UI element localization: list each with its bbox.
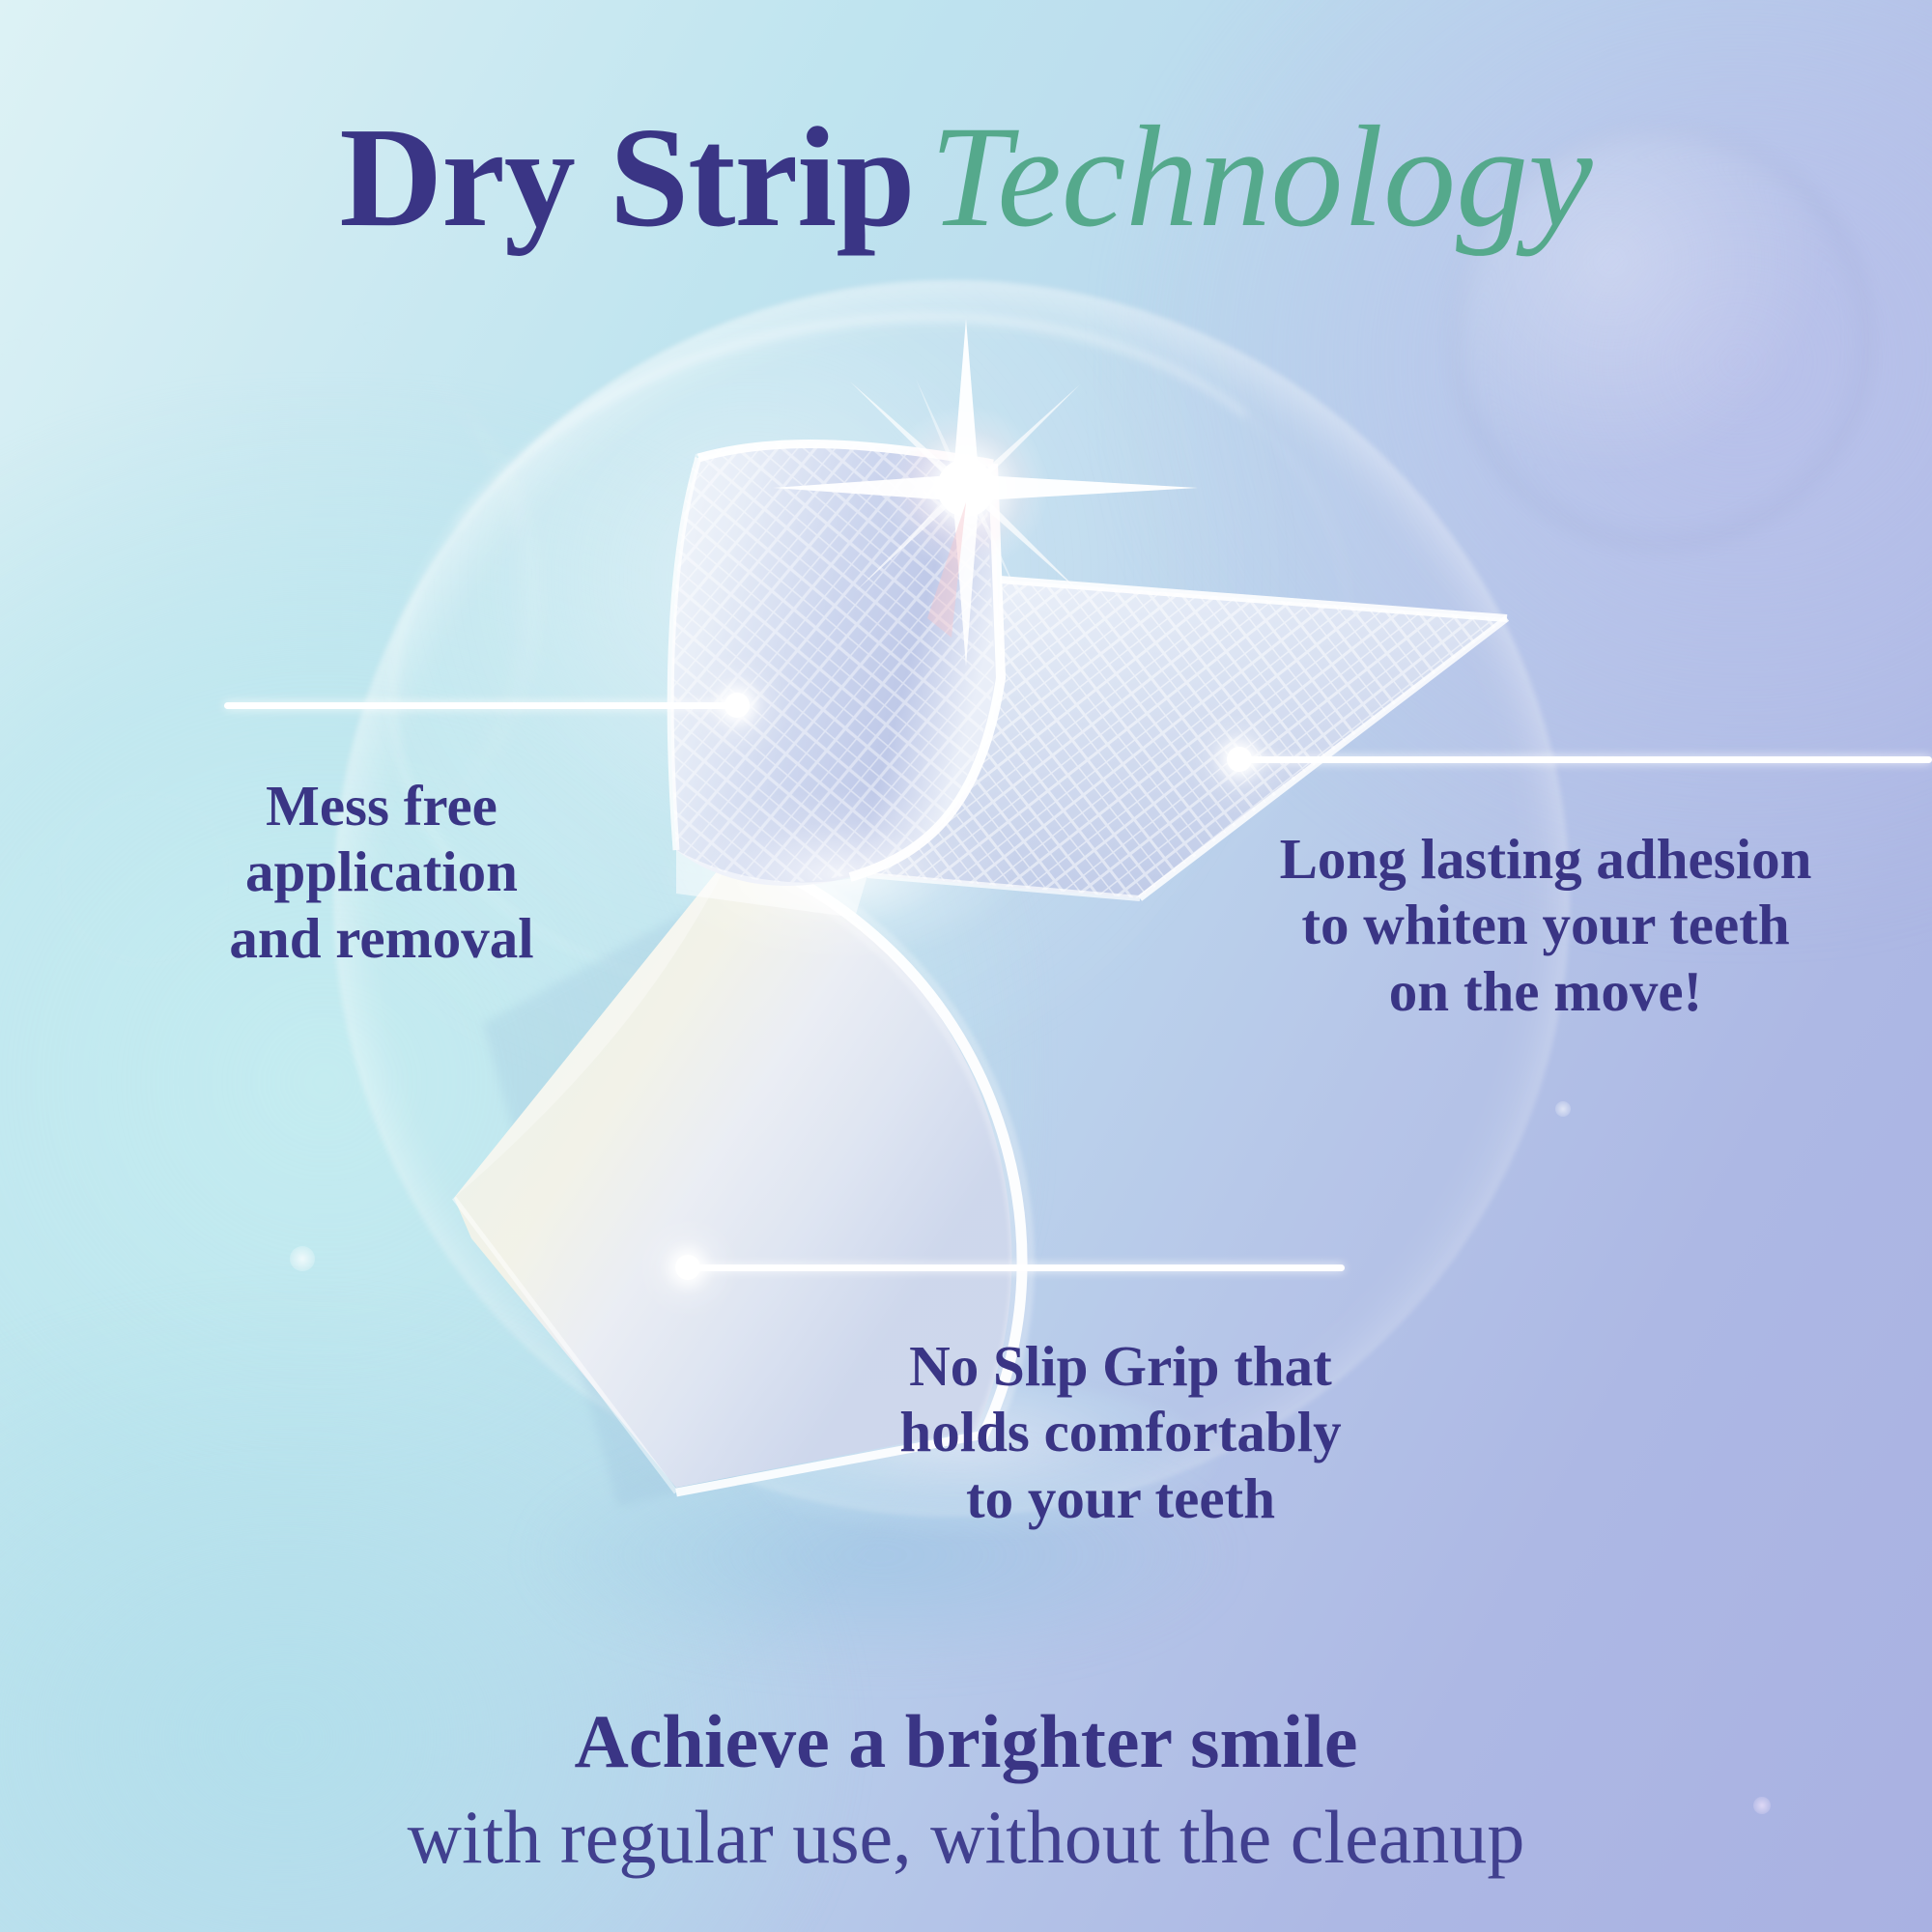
callout-label-long-lasting-adhesion: Long lasting adhesion to whiten your tee… [1227, 826, 1864, 1024]
callout-label-line: No Slip Grip that [831, 1333, 1410, 1399]
footer-headline: Achieve a brighter smile [0, 1700, 1932, 1783]
callout-line-long-lasting-adhesion [1239, 756, 1932, 763]
callout-label-line: holds comfortably [831, 1399, 1410, 1464]
callout-dot-long-lasting-adhesion [1227, 747, 1252, 772]
callout-label-line: to whiten your teeth [1227, 892, 1864, 957]
callout-label-line: and removal [145, 905, 618, 971]
callout-label-mess-free: Mess free application and removal [145, 773, 618, 971]
title-bold-part: Dry Strip [339, 99, 914, 257]
callout-label-line: application [145, 838, 618, 904]
poster-canvas: Dry StripTechnology Mess free applicatio… [0, 0, 1932, 1932]
footer-subline: with regular use, without the cleanup [0, 1793, 1932, 1882]
callout-dot-no-slip-grip [675, 1255, 700, 1280]
callout-label-no-slip-grip: No Slip Grip that holds comfortably to y… [831, 1333, 1410, 1531]
footer-tagline: Achieve a brighter smile with regular us… [0, 1700, 1932, 1882]
page-title: Dry StripTechnology [0, 104, 1932, 249]
callout-label-line: to your teeth [831, 1465, 1410, 1531]
title-italic-part: Technology [930, 97, 1593, 257]
callout-line-mess-free [224, 702, 736, 709]
callout-label-line: on the move! [1227, 958, 1864, 1024]
callout-dot-mess-free [724, 693, 750, 718]
callout-label-line: Long lasting adhesion [1227, 826, 1864, 892]
callout-label-line: Mess free [145, 773, 618, 838]
callout-line-no-slip-grip [688, 1264, 1345, 1271]
